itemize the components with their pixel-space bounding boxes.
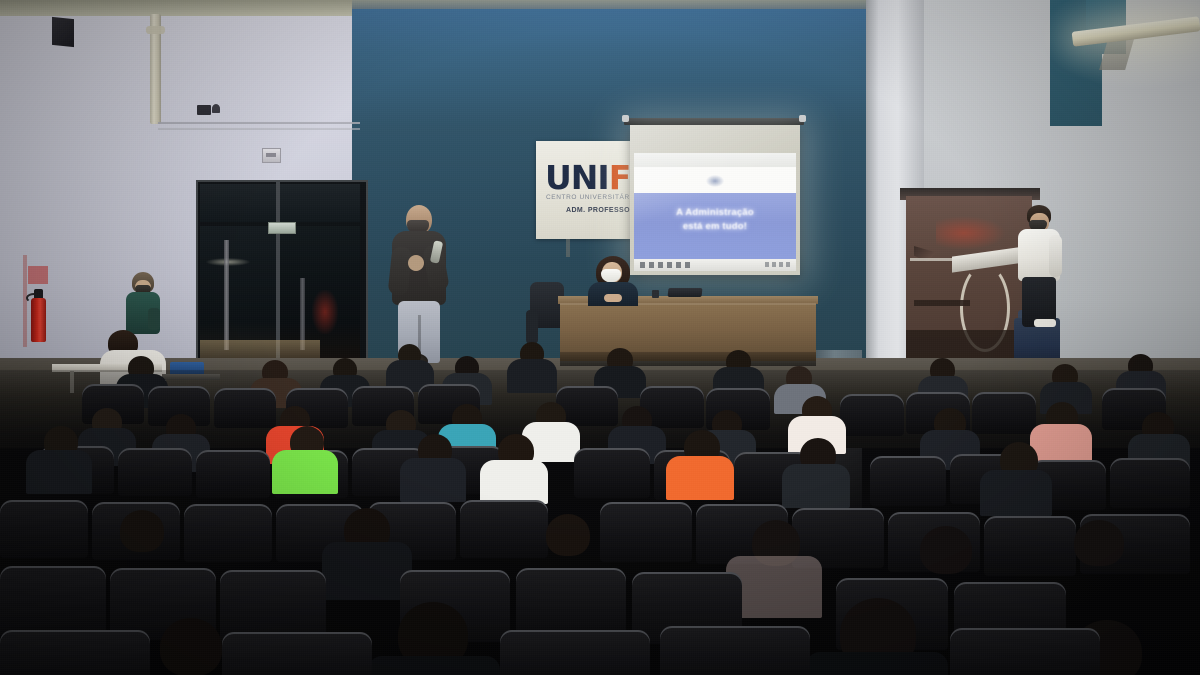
fire-equipment-sign xyxy=(28,266,48,284)
auditorium-seat[interactable] xyxy=(660,626,810,675)
wall-vent-box xyxy=(52,17,74,47)
auditorium-seat[interactable] xyxy=(460,500,548,558)
left-attendee-bag xyxy=(148,308,160,330)
tray-clock-icon[interactable] xyxy=(786,262,790,267)
attendee-shoe xyxy=(1034,319,1056,327)
taskbar-browser-icon[interactable] xyxy=(667,262,672,268)
audience-torso xyxy=(507,359,557,393)
auditorium-seat[interactable] xyxy=(214,388,276,428)
audience-torso xyxy=(400,458,466,502)
ceiling-strip xyxy=(352,0,886,9)
moderator-face-mask xyxy=(601,269,621,282)
auditorium-seat[interactable] xyxy=(984,516,1076,576)
auditorium-seat[interactable] xyxy=(950,628,1100,675)
taskbar-app-icon[interactable] xyxy=(685,262,690,268)
tray-battery-icon[interactable] xyxy=(779,262,783,267)
banner-stand xyxy=(566,239,570,257)
presenter-hands xyxy=(408,255,424,271)
auditorium-seat[interactable] xyxy=(972,392,1036,434)
slide-blue-panel: A Administração está em tudo! xyxy=(634,193,796,259)
auditorium-seat[interactable] xyxy=(870,456,946,506)
wall-speaker-cone-icon xyxy=(212,104,220,113)
door-transom-window xyxy=(200,184,360,222)
audience-torso xyxy=(480,460,548,504)
auditorium-seat[interactable] xyxy=(1110,458,1190,508)
banner-logo-main: UNI xyxy=(545,158,609,197)
banner-logo-accent: F xyxy=(609,158,631,197)
audience-torso xyxy=(26,450,92,494)
tray-volume-icon[interactable] xyxy=(772,262,776,267)
outside-red-object xyxy=(312,290,338,334)
standing-attendee-right xyxy=(1016,205,1062,333)
audience-torso xyxy=(272,450,338,494)
auditorium-seat[interactable] xyxy=(0,500,88,558)
auditorium-seat[interactable] xyxy=(600,502,692,562)
audience-torso xyxy=(980,470,1052,516)
presentation-slide: A Administração está em tudo! xyxy=(634,153,796,259)
audience-head xyxy=(546,514,590,556)
slide-top-band xyxy=(634,153,796,167)
taskbar-powerpoint-icon[interactable] xyxy=(676,262,681,268)
auditorium-seat[interactable] xyxy=(574,448,650,498)
slide-line-1: A Administração xyxy=(634,206,796,220)
taskbar-icons[interactable] xyxy=(640,262,690,268)
taskbar-system-tray[interactable] xyxy=(765,262,790,267)
audience-torso xyxy=(322,542,412,600)
moderator-hands xyxy=(604,294,622,302)
auditorium-seat[interactable] xyxy=(184,504,272,562)
audience-head xyxy=(160,618,222,675)
slide-line-2: está em tudo! xyxy=(634,220,796,234)
wall-conduit-secondary xyxy=(158,128,360,130)
auditorium-seat[interactable] xyxy=(118,448,192,496)
attendee-arm xyxy=(1049,235,1062,277)
alcove-wall-object xyxy=(936,216,1006,250)
tray-network-icon[interactable] xyxy=(765,262,769,267)
auditorium-seat[interactable] xyxy=(840,394,904,436)
projector-screen-roller xyxy=(624,118,804,125)
seated-moderator xyxy=(586,256,638,302)
university-banner: UNIF CENTRO UNIVERSITÁRIO ADM. PROFESSOR xyxy=(536,141,644,239)
pipe-collar xyxy=(146,26,165,34)
wall-outlet-icon xyxy=(262,148,281,163)
wall-conduit xyxy=(158,122,360,124)
auditorium-photo: UNIF CENTRO UNIVERSITÁRIO ADM. PROFESSOR… xyxy=(0,0,1200,675)
mug-icon xyxy=(652,290,659,298)
windows-taskbar[interactable] xyxy=(634,259,796,271)
banner-department: ADM. PROFESSOR xyxy=(566,207,635,214)
laptop-icon xyxy=(668,288,703,297)
audience-area xyxy=(0,330,1200,675)
alcove-bar xyxy=(914,300,970,306)
taskbar-start-icon[interactable] xyxy=(640,262,645,268)
taskbar-explorer-icon[interactable] xyxy=(658,262,663,268)
slide-logo xyxy=(706,175,724,187)
audience-torso xyxy=(1030,424,1092,464)
banner-subtitle: CENTRO UNIVERSITÁRIO xyxy=(546,194,638,201)
taskbar-search-icon[interactable] xyxy=(649,262,654,268)
exit-sign-icon xyxy=(268,222,296,234)
slide-headline: A Administração está em tudo! xyxy=(634,206,796,234)
auditorium-seat[interactable] xyxy=(0,630,150,675)
auditorium-seat[interactable] xyxy=(222,632,372,675)
audience-torso xyxy=(666,456,734,500)
auditorium-seat[interactable] xyxy=(0,566,106,638)
audience-torso xyxy=(368,656,500,675)
wall-speaker-icon xyxy=(197,105,211,115)
projector-screen-icon: A Administração está em tudo! xyxy=(630,125,800,275)
left-wall-ceiling-strip xyxy=(0,0,360,16)
audience-head xyxy=(920,526,972,574)
banner-logo: UNIF xyxy=(545,161,630,194)
auditorium-seat[interactable] xyxy=(196,450,270,498)
audience-torso xyxy=(782,464,850,508)
audience-head xyxy=(1074,520,1124,566)
auditorium-seat[interactable] xyxy=(500,630,650,675)
audience-head xyxy=(120,510,164,552)
audience-torso xyxy=(806,652,948,675)
